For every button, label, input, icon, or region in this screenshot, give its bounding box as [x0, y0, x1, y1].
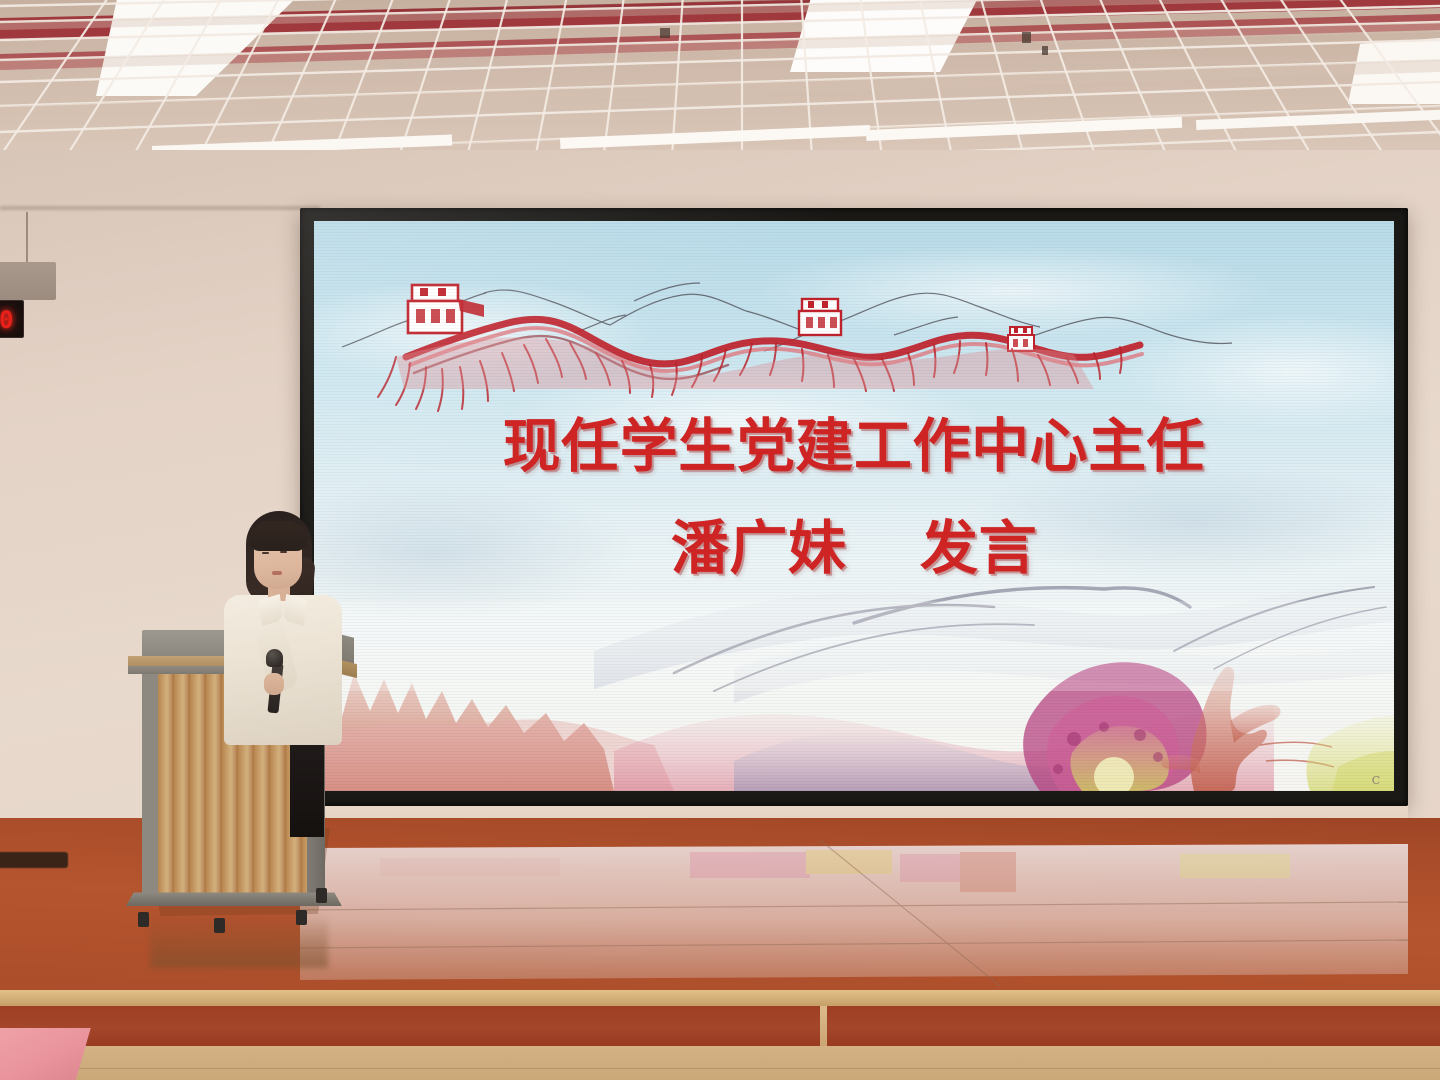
presenter-eye-right [280, 551, 287, 553]
screen-brand-logo-icon: C [1368, 774, 1384, 788]
clock-cable [26, 212, 28, 266]
led-display-frame: 现任学生党建工作中心主任 潘广妹 发言 C [300, 208, 1408, 806]
presenter-lower-body [290, 737, 324, 837]
speech-action: 发言 [920, 514, 1037, 582]
slide-title-line-1: 现任学生党建工作中心主任 [314, 417, 1394, 475]
podium-base-plate [126, 892, 342, 906]
podium-caster [316, 888, 327, 903]
led-wall-clock: 0 [0, 300, 24, 338]
floor-tile-line [0, 1068, 1440, 1069]
podium-caster [138, 912, 149, 927]
stage-front-face [0, 1006, 1440, 1050]
presenter-fringe [249, 521, 307, 551]
hall-floor [0, 1046, 1440, 1080]
speaker-name: 潘广妹 [671, 514, 847, 582]
presenter [218, 505, 348, 835]
presenter-hand [264, 673, 284, 695]
microphone-icon [266, 649, 283, 667]
conference-hall-photo: 0 [0, 0, 1440, 1080]
stage-floor-cutout [0, 852, 68, 868]
stage-face-seam [820, 1006, 827, 1050]
wall-shadow-line [0, 206, 320, 210]
podium-caster [296, 910, 307, 925]
clock-mount-bracket [0, 262, 56, 300]
slide-title-line-2: 潘广妹 发言 [314, 519, 1394, 577]
led-display-screen: 现任学生党建工作中心主任 潘广妹 发言 C [314, 221, 1394, 791]
slide-text-block: 现任学生党建工作中心主任 潘广妹 发言 [314, 417, 1394, 577]
clock-digits: 0 [0, 305, 12, 335]
presenter-mouth [272, 571, 282, 575]
podium-caster [214, 918, 225, 933]
presenter-eye-left [262, 552, 269, 554]
pink-foreground-object [0, 1028, 91, 1080]
